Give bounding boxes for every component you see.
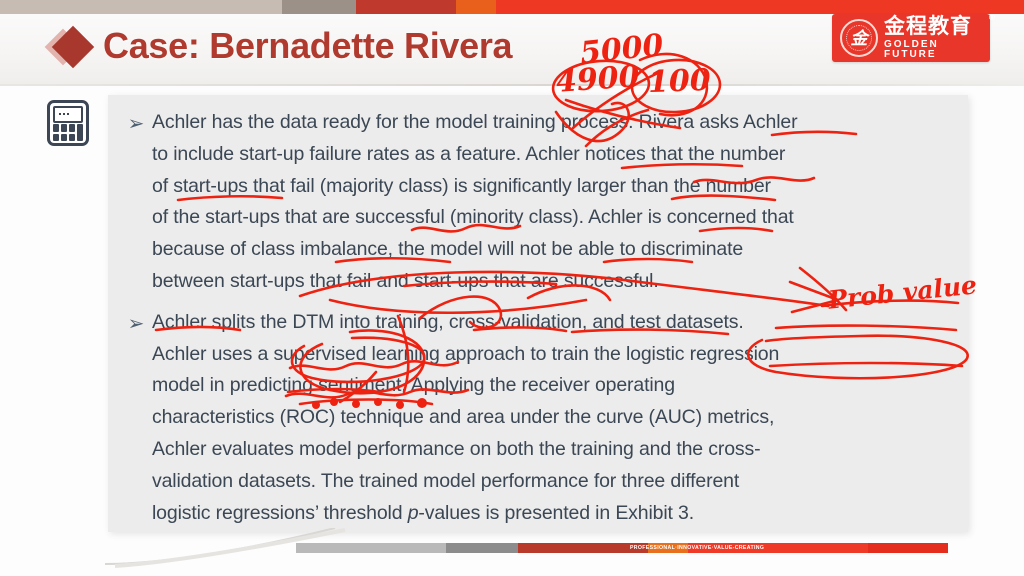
bullet-line: characteristics (ROC) technique and area…: [152, 402, 960, 434]
brand-logo: 金 金程教育® GOLDEN FUTURE: [832, 14, 990, 62]
footbar-segment-light-gray: [296, 543, 446, 553]
bullet-arrow-icon: ➢: [120, 107, 152, 298]
diamond-bullet-icon: [48, 26, 94, 72]
logo-seal-icon: 金: [840, 19, 878, 57]
logo-trademark: ®: [988, 14, 997, 22]
topbar-segment-beige: [0, 0, 282, 14]
bullet-line: Achler evaluates model performance on bo…: [152, 434, 960, 466]
slide-canvas: Case: Bernadette Rivera 金 金程教育® GOLDEN F…: [0, 0, 1024, 576]
logo-english-name: GOLDEN FUTURE: [884, 40, 990, 61]
top-color-bar: [0, 0, 1024, 14]
bullet-line: logistic regressions’ threshold p-values…: [152, 498, 960, 530]
footbar-segment-mid-gray: [446, 543, 518, 553]
bullet-line: to include start-up failure rates as a f…: [152, 139, 960, 171]
bullet-line: of start-ups that fail (majority class) …: [152, 171, 960, 203]
page-title: Case: Bernadette Rivera: [103, 25, 512, 67]
calculator-icon: [47, 100, 89, 146]
footer-color-bar: [296, 543, 948, 553]
bullet-item: ➢Achler has the data ready for the model…: [120, 107, 960, 298]
bullet-line: Achler uses a supervised learning approa…: [152, 339, 960, 371]
topbar-segment-orange: [456, 0, 496, 14]
footbar-segment-red-tail: [868, 543, 948, 553]
header-divider: [0, 84, 1024, 86]
note-100: 100: [647, 63, 711, 100]
bullet-line: because of class imbalance, the model wi…: [152, 234, 960, 266]
bullet-line: model in predicting sentiment. Applying …: [152, 370, 960, 402]
bullet-arrow-icon: ➢: [120, 307, 152, 530]
footbar-segment-dark-red: [518, 543, 648, 553]
bullet-line: validation datasets. The trained model p…: [152, 466, 960, 498]
topbar-segment-red: [496, 0, 1024, 14]
bullet-line: Achler has the data ready for the model …: [152, 107, 960, 139]
logo-seal-glyph: 金: [851, 30, 868, 47]
logo-chinese-name: 金程教育®: [884, 15, 990, 37]
footer-tagline: PROFESSIONAL·INNOVATIVE·VALUE-CREATING: [630, 545, 764, 551]
bullet-item: ➢Achler splits the DTM into training, cr…: [120, 307, 960, 530]
topbar-segment-dark-red: [356, 0, 456, 14]
topbar-segment-gray: [282, 0, 356, 14]
note-4900: 4900: [555, 59, 641, 100]
bullet-paragraph: Achler splits the DTM into training, cro…: [152, 307, 960, 530]
bullet-line: of the start-ups that are successful (mi…: [152, 202, 960, 234]
bullet-list: ➢Achler has the data ready for the model…: [120, 107, 960, 538]
bullet-paragraph: Achler has the data ready for the model …: [152, 107, 960, 298]
